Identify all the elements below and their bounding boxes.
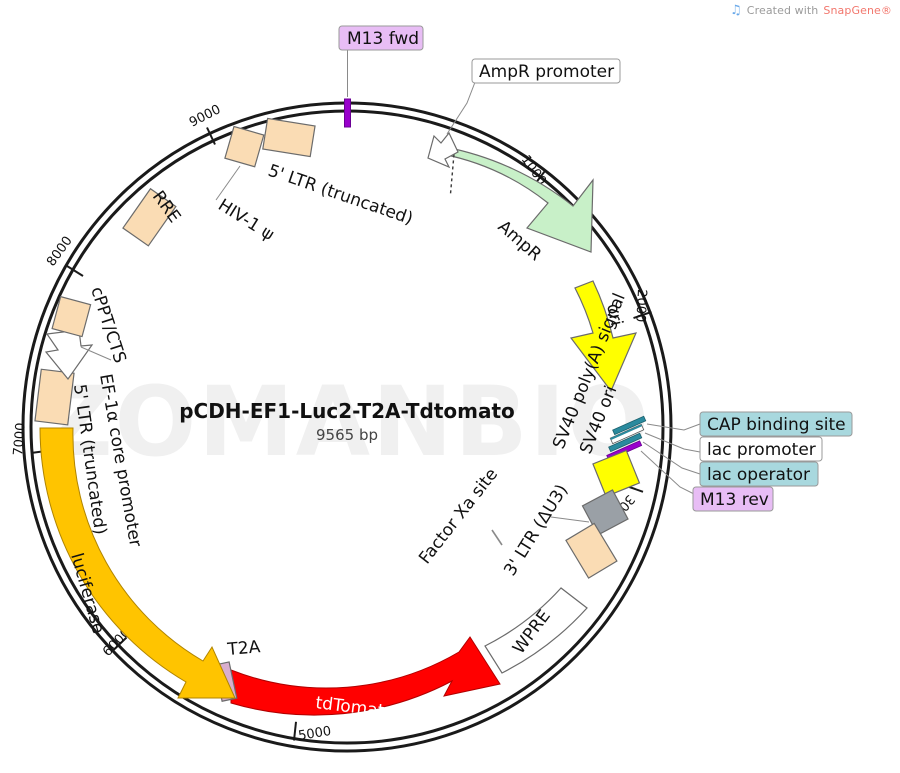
feature-label-t2a: T2A (226, 637, 262, 660)
callout-cap-binding-site[interactable]: CAP binding site (700, 412, 852, 436)
plasmid-map-canvas: ♫ Created with SnapGene® ZOMANBIO 1000 2… (0, 0, 900, 773)
callout-label-lac-promoter: lac promoter (707, 440, 816, 460)
tick-2000: 2000 (632, 289, 651, 323)
feature-label-cppt-cts: cPPT/CTS (86, 284, 129, 365)
feature-tdtomato[interactable]: tdTomato (231, 637, 500, 723)
callout-label-m13-fwd: M13 fwd (347, 29, 419, 49)
callout-label-cap-binding-site: CAP binding site (707, 415, 846, 435)
feature-label-factor-xa-site: Factor Xa site (415, 465, 502, 568)
tick-label-9000: 9000 (187, 102, 223, 130)
plasmid-size: 9565 bp (316, 426, 378, 444)
plasmid-svg: ZOMANBIO 1000 2000 3000 (0, 0, 900, 773)
snapgene-logo-icon: ♫ (730, 4, 742, 17)
feature-label-three-prime-ltr: 3' LTR (ΔU3) (500, 481, 572, 580)
feature-factor-xa-site[interactable]: Factor Xa site (415, 465, 502, 568)
plasmid-name: pCDH-EF1-Luc2-T2A-Tdtomato (179, 399, 515, 423)
tick-5000: 5000 (294, 722, 332, 744)
snapgene-credit: ♫ Created with SnapGene® (730, 4, 892, 17)
feature-label-five-prime-ltr-top: 5' LTR (truncated) (265, 161, 415, 229)
callout-lac-operator[interactable]: lac operator (700, 462, 818, 486)
callout-m13-fwd[interactable]: M13 fwd (339, 26, 423, 50)
callout-label-ampr-promoter: AmpR promoter (479, 62, 614, 82)
feature-m13-fwd[interactable] (345, 99, 351, 127)
callout-m13-rev[interactable]: M13 rev (693, 487, 773, 511)
feature-label-hiv-1-psi: HIV-1 ψ (214, 195, 277, 245)
callout-label-m13-rev: M13 rev (700, 490, 769, 510)
tick-label-7000: 7000 (11, 422, 29, 456)
tick-label-2000: 2000 (632, 289, 649, 323)
feature-amp-r[interactable]: AmpR (442, 147, 593, 265)
feature-five-prime-ltr-top[interactable]: 5' LTR (truncated) (263, 118, 416, 229)
credit-brand: SnapGene® (823, 4, 892, 17)
credit-prefix: Created with (747, 4, 819, 17)
callout-label-lac-operator: lac operator (707, 465, 810, 485)
callout-ampr-promoter[interactable]: AmpR promoter (472, 59, 620, 83)
callout-lac-promoter[interactable]: lac promoter (700, 437, 822, 461)
tick-label-8000: 8000 (44, 234, 76, 270)
